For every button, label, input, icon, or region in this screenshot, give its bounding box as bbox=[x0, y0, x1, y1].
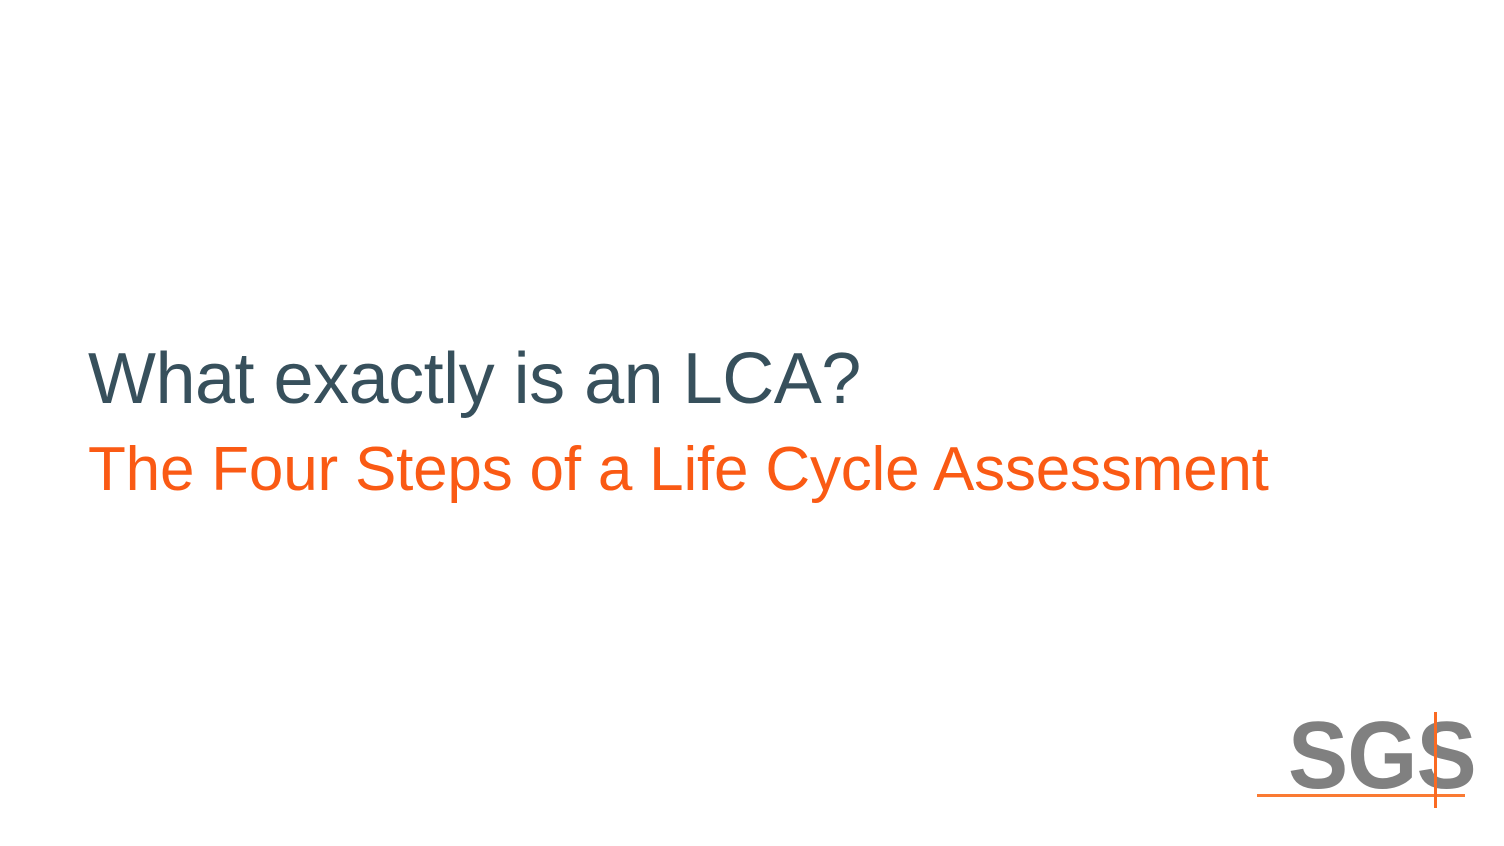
page-subtitle: The Four Steps of a Life Cycle Assessmen… bbox=[88, 428, 1388, 512]
sgs-wordmark: SGS bbox=[1288, 708, 1476, 804]
title-block: What exactly is an LCA? The Four Steps o… bbox=[88, 330, 1388, 512]
logo-vertical-rule bbox=[1434, 712, 1437, 808]
page-title: What exactly is an LCA? bbox=[88, 330, 1388, 428]
sgs-logo: SGS bbox=[1255, 705, 1470, 815]
presentation-slide: What exactly is an LCA? The Four Steps o… bbox=[0, 0, 1504, 846]
